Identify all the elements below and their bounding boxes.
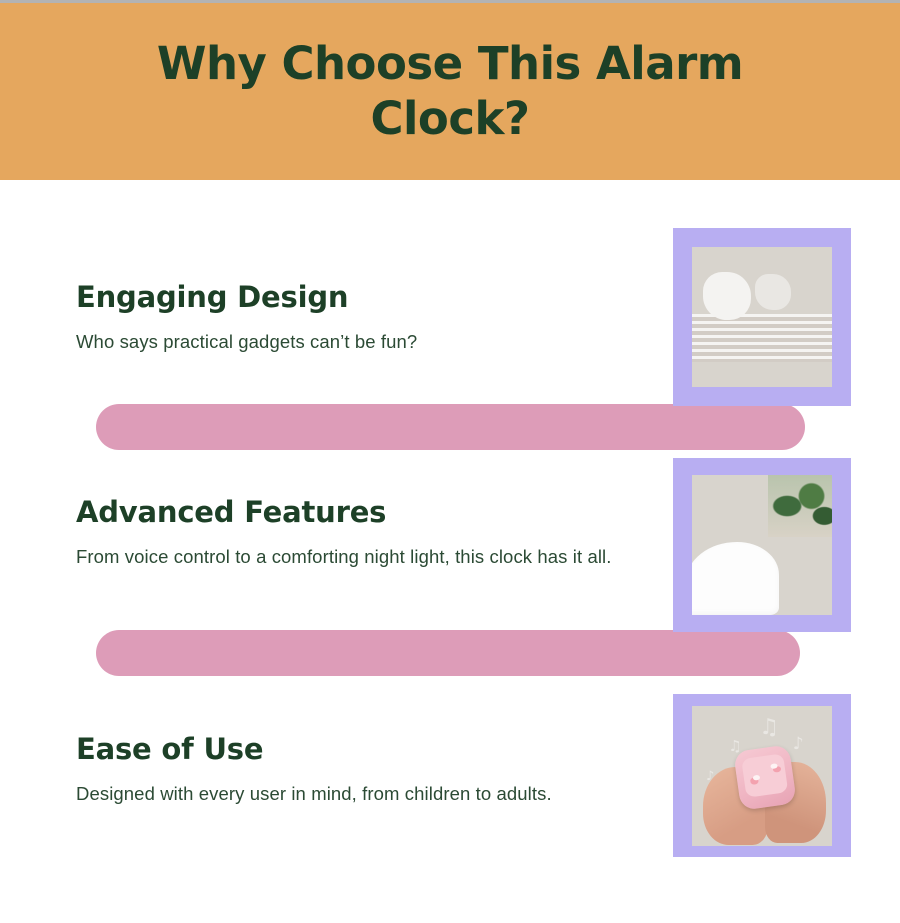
feature-image-card-2 (673, 458, 851, 632)
feature-image-card-1 (673, 228, 851, 406)
feature-block-advanced-features: Advanced Features From voice control to … (76, 497, 676, 570)
feature-body-text: Who says practical gadgets can’t be fun? (76, 328, 676, 355)
music-note-icon: ♫ (728, 739, 741, 754)
feature-heading: Ease of Use (76, 734, 676, 766)
clock-face (741, 753, 789, 797)
clock-light-right (770, 762, 777, 768)
feature-block-ease-of-use: Ease of Use Designed with every user in … (76, 734, 676, 807)
page-title: Why Choose This Alarm Clock? (100, 37, 800, 147)
pink-alarm-clock-in-hands-photo: ♫ ♪ ♫ ♪ ♫ ♪ (692, 706, 832, 846)
music-note-icon: ♪ (793, 736, 804, 753)
alarm-clock-device (733, 744, 797, 810)
feature-heading: Advanced Features (76, 497, 676, 529)
header-banner: Why Choose This Alarm Clock? (0, 3, 900, 180)
feature-body-text: Designed with every user in mind, from c… (76, 780, 676, 807)
feature-body-text: From voice control to a comforting night… (76, 543, 676, 570)
feature-heading: Engaging Design (76, 282, 676, 314)
feature-block-engaging-design: Engaging Design Who says practical gadge… (76, 282, 676, 355)
pink-pill-divider-1 (96, 404, 805, 450)
feature-image-card-3: ♫ ♪ ♫ ♪ ♫ ♪ (673, 694, 851, 857)
music-note-icon: ♫ (759, 717, 779, 739)
woman-sleeping-with-eye-mask-photo (692, 247, 832, 387)
woman-sleeping-on-pillow-photo (692, 475, 832, 615)
clock-light-left (753, 774, 760, 780)
pink-pill-divider-2 (96, 630, 800, 676)
infographic-page: Why Choose This Alarm Clock? Engaging De… (0, 0, 900, 923)
